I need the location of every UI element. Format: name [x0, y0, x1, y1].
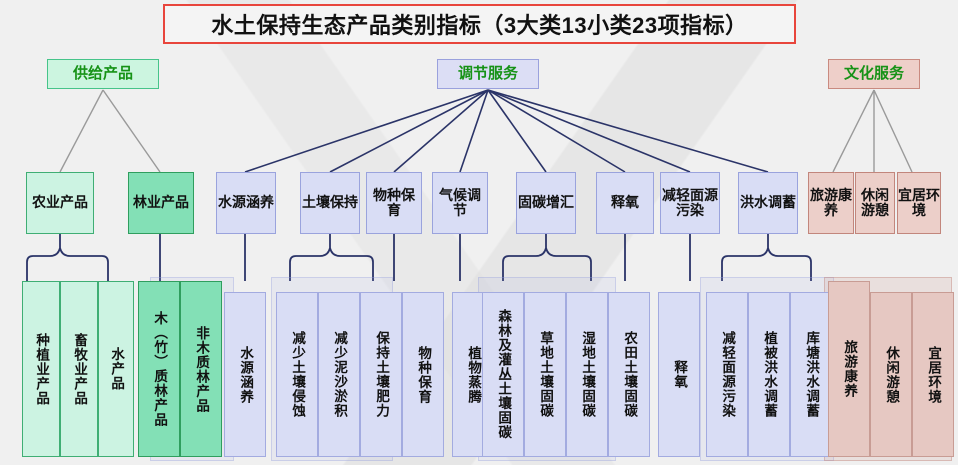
indicator-crop-products[interactable]: 种植业产品 — [22, 281, 60, 457]
indicator-wood-bamboo-products[interactable]: 木（竹）质林产品 — [138, 281, 180, 457]
subcategory-soil-conservation[interactable]: 土壤保持 — [300, 172, 360, 234]
diagram-canvas: 水土保持生态产品类别指标（3大类13小类23项指标） 供给产品 调节服务 文化服… — [0, 0, 958, 465]
indicator-vegetation-flood-storage[interactable]: 植被洪水调蓄 — [748, 292, 790, 457]
subcategory-tourism-wellness[interactable]: 旅游康养 — [808, 172, 854, 234]
indicator-reduce-soil-erosion[interactable]: 减少土壤侵蚀 — [276, 292, 318, 457]
indicator-farmland-soil-carbon[interactable]: 农田土壤固碳 — [608, 292, 650, 457]
subcategory-nonpoint-pollution[interactable]: 减轻面源污染 — [660, 172, 720, 234]
indicator-livable-environment[interactable]: 宜居环境 — [912, 292, 954, 457]
subcategory-livable-environment[interactable]: 宜居环境 — [897, 172, 941, 234]
subcategory-agricultural-products[interactable]: 农业产品 — [26, 172, 94, 234]
page-title: 水土保持生态产品类别指标（3大类13小类23项指标） — [163, 4, 796, 44]
brace-agri — [27, 234, 108, 281]
subcategory-oxygen-release[interactable]: 释氧 — [596, 172, 654, 234]
subcategory-flood-regulation[interactable]: 洪水调蓄 — [738, 172, 798, 234]
indicator-wetland-soil-carbon[interactable]: 湿地土壤固碳 — [566, 292, 608, 457]
subcategory-leisure-recreation[interactable]: 休闲游憩 — [855, 172, 895, 234]
indicator-water-conservation[interactable]: 水源涵养 — [224, 292, 266, 457]
indicator-oxygen-release[interactable]: 释氧 — [658, 292, 700, 457]
indicator-tourism-wellness[interactable]: 旅游康养 — [828, 281, 870, 457]
indicator-leisure-recreation[interactable]: 休闲游憩 — [870, 292, 912, 457]
indicator-nonpoint-pollution[interactable]: 减轻面源污染 — [706, 292, 748, 457]
subcategory-forestry-products[interactable]: 林业产品 — [128, 172, 194, 234]
indicator-livestock-products[interactable]: 畜牧业产品 — [60, 281, 98, 457]
indicator-maintain-soil-fertility[interactable]: 保持土壤肥力 — [360, 292, 402, 457]
brace-soil — [290, 234, 373, 281]
indicator-reduce-sediment[interactable]: 减少泥沙淤积 — [318, 292, 360, 457]
indicator-grassland-soil-carbon[interactable]: 草地土壤固碳 — [524, 292, 566, 457]
category-regulating-services[interactable]: 调节服务 — [437, 59, 539, 89]
category-cultural-services[interactable]: 文化服务 — [828, 59, 920, 89]
brace-flood — [722, 234, 811, 281]
subcategory-climate-regulation[interactable]: 气候调节 — [432, 172, 488, 234]
subcategory-water-conservation[interactable]: 水源涵养 — [216, 172, 276, 234]
regulate-connectors — [245, 90, 768, 172]
culture-connectors — [833, 90, 912, 172]
indicator-forest-shrub-soil-carbon[interactable]: 森林及灌丛土壤固碳 — [482, 292, 524, 457]
supply-connectors — [60, 90, 160, 172]
brace-carbon — [503, 234, 591, 281]
subcategory-species-conservation[interactable]: 物种保育 — [366, 172, 422, 234]
subcategory-carbon-sequestration[interactable]: 固碳增汇 — [516, 172, 576, 234]
indicator-reservoir-flood-storage[interactable]: 库塘洪水调蓄 — [790, 292, 832, 457]
indicator-nonwood-forest-products[interactable]: 非木质林产品 — [180, 281, 222, 457]
indicator-species-conservation[interactable]: 物种保育 — [402, 292, 444, 457]
indicator-aquatic-products[interactable]: 水产品 — [98, 281, 134, 457]
category-supply-products[interactable]: 供给产品 — [47, 59, 159, 89]
